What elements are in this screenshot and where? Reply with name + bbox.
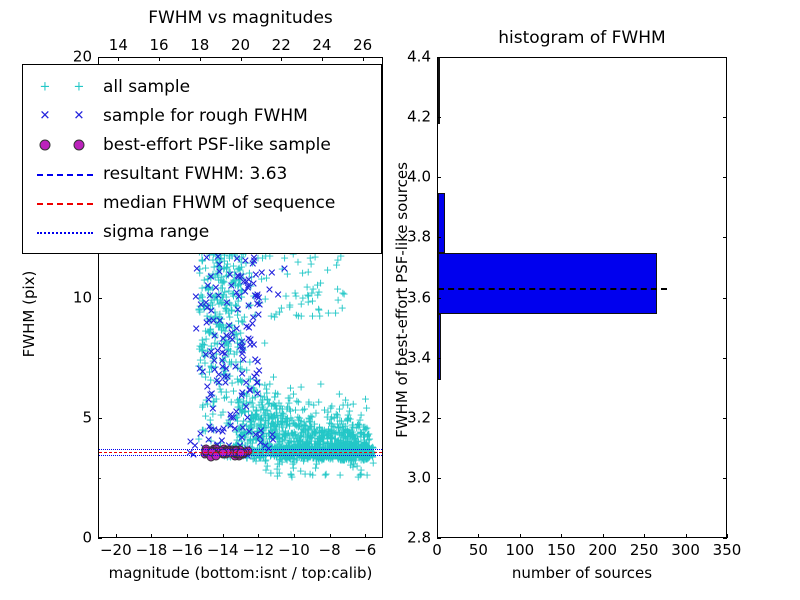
scatter-point: + [273,442,282,451]
scatter-point: + [205,329,214,338]
scatter-point: + [211,332,220,341]
scatter-point: + [208,283,217,292]
scatter-point: + [311,440,320,449]
scatter-point: + [365,435,374,444]
scatter-point: ✕ [219,425,228,434]
scatter-point: ✕ [255,300,264,309]
scatter-point: + [363,432,372,441]
scatter-point: + [206,298,215,307]
scatter-point: + [213,266,222,275]
scatter-point: ✕ [242,379,251,388]
scatter-point: + [261,417,270,426]
histogram-ytick-label: 2.8 [407,531,431,546]
scatter-point: ✕ [206,272,215,281]
scatter-point: + [318,439,327,448]
scatter-point: + [194,362,203,371]
histogram-xlabel: number of sources [437,566,727,581]
scatter-point: + [207,362,216,371]
scatter-point: ✕ [242,323,251,332]
scatter-point: ✕ [244,276,253,285]
scatter-point: + [348,455,357,464]
scatter-point: + [361,395,370,404]
legend-key-psf-sample [31,134,103,156]
scatter-point: + [336,442,345,451]
scatter-point: + [359,432,368,441]
scatter-point: + [304,399,313,408]
scatter-point: + [302,446,311,455]
scatter-point: ✕ [256,439,265,448]
scatter-point: + [339,425,348,434]
scatter-point: ✕ [251,271,260,280]
scatter-point: + [218,293,227,302]
scatter-point: + [220,394,229,403]
scatter-point: + [339,438,348,447]
scatter-point: + [237,378,246,387]
scatter-point: + [346,432,355,441]
scatter-point: + [235,255,244,264]
scatter-point: + [337,455,346,464]
scatter-point: + [209,354,218,363]
scatter-point: + [237,336,246,345]
scatter-point: + [261,465,270,474]
scatter-point: ✕ [256,427,265,436]
histogram-bar [438,193,445,253]
scatter-point: ✕ [249,254,258,263]
scatter-point: + [251,410,260,419]
scatter-point: + [232,442,241,451]
scatter-point: ✕ [249,279,258,288]
scatter-point: + [344,428,353,437]
scatter-point: + [359,423,368,432]
scatter-point: + [216,264,225,273]
scatter-point: + [222,388,231,397]
scatter-point: + [318,434,327,443]
scatter-point: + [264,419,273,428]
scatter-point: + [224,415,233,424]
scatter-point: + [332,427,341,436]
scatter-point: + [331,435,340,444]
scatter-point: + [314,305,323,314]
scatter-point: + [297,417,306,426]
scatter-point: + [236,365,245,374]
scatter-point: ✕ [192,265,201,274]
scatter-point: + [306,469,315,478]
scatter-point: + [205,317,214,326]
scatter-point: + [315,311,324,320]
scatter-point: + [304,292,313,301]
scatter-point: + [328,440,337,449]
scatter-point: ✕ [207,306,216,315]
scatter-point: + [232,428,241,437]
scatter-point: ✕ [237,273,246,282]
scatter-point: + [339,429,348,438]
scatter-point: + [255,400,264,409]
scatter-point: + [336,470,345,479]
histogram-ytick [437,358,441,359]
scatter-point: + [354,423,363,432]
scatter-point [222,449,231,458]
scatter-point: + [258,403,267,412]
scatter-point: + [353,432,362,441]
scatter-point: + [258,396,267,405]
scatter-point: + [205,327,214,336]
scatter-point: + [367,449,376,458]
scatter-point: + [294,397,303,406]
scatter-point: + [258,253,267,262]
scatter-point: + [213,271,222,280]
scatter-reference-line [99,455,382,456]
scatter-reference-line [99,452,382,453]
scatter-point: + [211,330,220,339]
scatter-point: + [310,439,319,448]
scatter-point: + [260,421,269,430]
scatter-point: + [352,452,361,461]
scatter-point: + [268,430,277,439]
scatter-point: + [239,389,248,398]
scatter-point: + [259,436,268,445]
scatter-point: + [305,440,314,449]
scatter-point: + [280,435,289,444]
scatter-point: + [229,331,238,340]
scatter-point: + [200,275,209,284]
scatter-point: ✕ [217,437,226,446]
scatter-point: + [289,438,298,447]
scatter-point: + [284,438,293,447]
scatter-point: + [292,396,301,405]
scatter-point: + [320,429,329,438]
scatter-point: + [257,420,266,429]
scatter-point [221,446,230,455]
scatter-point: ✕ [250,372,259,381]
scatter-point: + [236,339,245,348]
scatter-point: + [285,422,294,431]
scatter-point: + [272,433,281,442]
scatter-point: + [297,312,306,321]
scatter-point: + [261,456,270,465]
scatter-point: + [251,434,260,443]
scatter-point: + [283,413,292,422]
scatter-point: + [232,428,241,437]
scatter-point: + [218,355,227,364]
scatter-point: + [266,443,275,452]
scatter-point: + [270,426,279,435]
scatter-point: + [369,458,378,467]
scatter-point: + [292,442,301,451]
scatter-point: + [212,292,221,301]
legend-label-rough-fwhm: sample for rough FWHM [103,107,308,125]
scatter-point: + [215,384,224,393]
scatter-point: + [291,443,300,452]
scatter-point: + [255,299,264,308]
scatter-point: + [257,426,266,435]
histogram-ytick-label: 4.4 [407,50,431,65]
scatter-point: + [242,391,251,400]
scatter-point: + [195,342,204,351]
histogram-ytick-right [723,478,727,479]
scatter-point: + [273,428,282,437]
scatter-point: + [275,438,284,447]
scatter-point: + [208,351,217,360]
scatter-point: + [260,422,269,431]
scatter-point: + [315,443,324,452]
scatter-point: + [314,306,323,315]
scatter-point: + [291,291,300,300]
scatter-point: + [303,437,312,446]
scatter-point: + [251,414,260,423]
scatter-point: ✕ [232,254,241,263]
scatter-point: + [211,255,220,264]
scatter-point: + [327,435,336,444]
scatter-point: + [270,392,279,401]
scatter-point: + [338,304,347,313]
histogram-ytick [437,237,441,238]
scatter-point: + [362,440,371,449]
cross-icon: ✕ [74,110,85,121]
scatter-point: + [221,300,230,309]
scatter-point: + [338,455,347,464]
scatter-point: + [325,455,334,464]
scatter-point: + [244,374,253,383]
scatter-point: + [224,420,233,429]
scatter-point: + [237,425,246,434]
scatter-point: + [257,414,266,423]
scatter-point: + [303,425,312,434]
scatter-point: + [297,431,306,440]
scatter-point: + [232,411,241,420]
scatter-point: + [335,430,344,439]
scatter-point: + [198,292,207,301]
scatter-point: + [337,429,346,438]
scatter-point: + [240,407,249,416]
scatter-point: + [246,425,255,434]
scatter-point: + [222,419,231,428]
scatter-point: + [229,276,238,285]
scatter-point: + [292,421,301,430]
scatter-point: + [288,446,297,455]
scatter-point: + [258,439,267,448]
scatter-point: + [202,283,211,292]
scatter-point: + [336,435,345,444]
scatter-point: + [346,460,355,469]
scatter-point: + [295,443,304,452]
scatter-point: + [213,340,222,349]
scatter-point: + [221,326,230,335]
scatter-point: + [219,370,228,379]
scatter-point: + [310,443,319,452]
scatter-point: + [309,446,318,455]
scatter-point: + [249,292,258,301]
scatter-point: + [275,423,284,432]
scatter-point: + [236,358,245,367]
scatter-point: + [267,401,276,410]
scatter-point: + [308,312,317,321]
scatter-point: + [307,433,316,442]
scatter-point: + [244,301,253,310]
scatter-point: ✕ [242,277,251,286]
scatter-point: + [237,376,246,385]
scatter-point: + [213,295,222,304]
scatter-point: + [275,460,284,469]
scatter-point: + [211,314,220,323]
scatter-point: + [274,399,283,408]
scatter-point: + [351,435,360,444]
scatter-point: + [238,343,247,352]
scatter-point: + [286,470,295,479]
scatter-point: + [202,395,211,404]
scatter-point: + [351,442,360,451]
scatter-point: + [244,382,253,391]
scatter-point: + [305,432,314,441]
histogram-xtick [686,534,687,538]
scatter-point: + [264,418,273,427]
scatter-point: + [196,302,205,311]
scatter-point: ✕ [255,367,264,376]
scatter-point: + [308,443,317,452]
scatter-point: + [222,393,231,402]
scatter-point: + [305,416,314,425]
scatter-point: + [198,257,207,266]
scatter-point: + [317,428,326,437]
scatter-point: + [299,425,308,434]
scatter-point: + [334,423,343,432]
scatter-point: + [237,286,246,295]
scatter-point: + [234,316,243,325]
scatter-point: ✕ [251,355,260,364]
plus-icon: + [40,81,51,92]
scatter-point: + [339,455,348,464]
scatter-point: + [313,281,322,290]
scatter-reference-line [99,449,382,450]
scatter-point: ✕ [210,426,219,435]
scatter-point: + [237,316,246,325]
scatter-point: + [315,440,324,449]
scatter-point: + [221,307,230,316]
scatter-point: + [304,414,313,423]
scatter-point: + [284,399,293,408]
scatter-point: + [341,446,350,455]
scatter-point: + [234,296,243,305]
scatter-point: + [283,270,292,279]
scatter-point: + [248,259,257,268]
scatter-point: + [202,334,211,343]
scatter-point: ✕ [215,316,224,325]
histogram-bar [438,58,440,124]
scatter-point: + [272,446,281,455]
scatter-point: + [239,388,248,397]
scatter-point: + [233,378,242,387]
scatter-point: ✕ [208,404,217,413]
scatter-point: ✕ [253,358,262,367]
scatter-point: + [285,301,294,310]
scatter-point: + [194,306,203,315]
scatter-point: + [267,412,276,421]
scatter-point: + [297,300,306,309]
legend-box: + + all sample ✕ ✕ sample for rough FWHM… [22,64,382,254]
scatter-point: + [360,423,369,432]
scatter-point: + [305,421,314,430]
scatter-point: + [237,274,246,283]
scatter-point: + [217,325,226,334]
scatter-point: + [294,415,303,424]
scatter-point: + [198,292,207,301]
scatter-point: ✕ [228,336,237,345]
scatter-point: + [327,419,336,428]
scatter-point: + [271,424,280,433]
scatter-point: + [306,422,315,431]
scatter-point: ✕ [248,320,257,329]
scatter-point: + [195,344,204,353]
scatter-point: + [258,428,267,437]
scatter-point: + [346,415,355,424]
scatter-point: + [220,288,229,297]
scatter-point: + [194,304,203,313]
scatter-point: + [233,343,242,352]
scatter-point: + [198,284,207,293]
scatter-point: + [327,449,336,458]
scatter-point: + [241,401,250,410]
scatter-point: + [229,288,238,297]
scatter-point: ✕ [205,292,214,301]
scatter-point: + [250,419,259,428]
scatter-point: + [198,400,207,409]
figure-canvas: ++++++++++++++++++++++++++++++++++++++++… [0,0,800,600]
scatter-point: + [247,423,256,432]
scatter-point: + [290,419,299,428]
scatter-point: + [345,407,354,416]
scatter-point: + [361,425,370,434]
scatter-point: ✕ [201,350,210,359]
scatter-point: + [326,433,335,442]
scatter-point: + [302,439,311,448]
scatter-point: + [273,389,282,398]
histogram-xtick [603,534,604,538]
scatter-point: + [308,429,317,438]
scatter-point: + [323,412,332,421]
histogram-ytick-right [723,57,727,58]
scatter-point: + [217,325,226,334]
scatter-point: + [260,338,269,347]
scatter-point: + [285,437,294,446]
scatter-point: + [359,455,368,464]
scatter-point: + [230,267,239,276]
scatter-point: + [347,456,356,465]
scatter-point: ✕ [204,396,213,405]
scatter-point: + [329,449,338,458]
scatter-point: + [199,302,208,311]
scatter-point: + [208,269,217,278]
scatter-point: + [211,273,220,282]
scatter-point: + [303,439,312,448]
scatter-point: + [321,443,330,452]
scatter-point: + [232,426,241,435]
scatter-point: + [257,436,266,445]
scatter-point: ✕ [255,432,264,441]
scatter-point: + [351,440,360,449]
histogram-reference-line [438,288,667,290]
scatter-point: + [214,314,223,323]
scatter-point: + [315,431,324,440]
histogram-ytick-label: 3.0 [407,470,431,485]
scatter-point: ✕ [214,427,223,436]
scatter-point: + [300,404,309,413]
scatter-point: + [200,351,209,360]
scatter-point: + [239,417,248,426]
scatter-point: + [278,265,287,274]
scatter-point: + [284,438,293,447]
scatter-point: + [252,432,261,441]
scatter-point: + [235,405,244,414]
scatter-point: + [258,438,267,447]
